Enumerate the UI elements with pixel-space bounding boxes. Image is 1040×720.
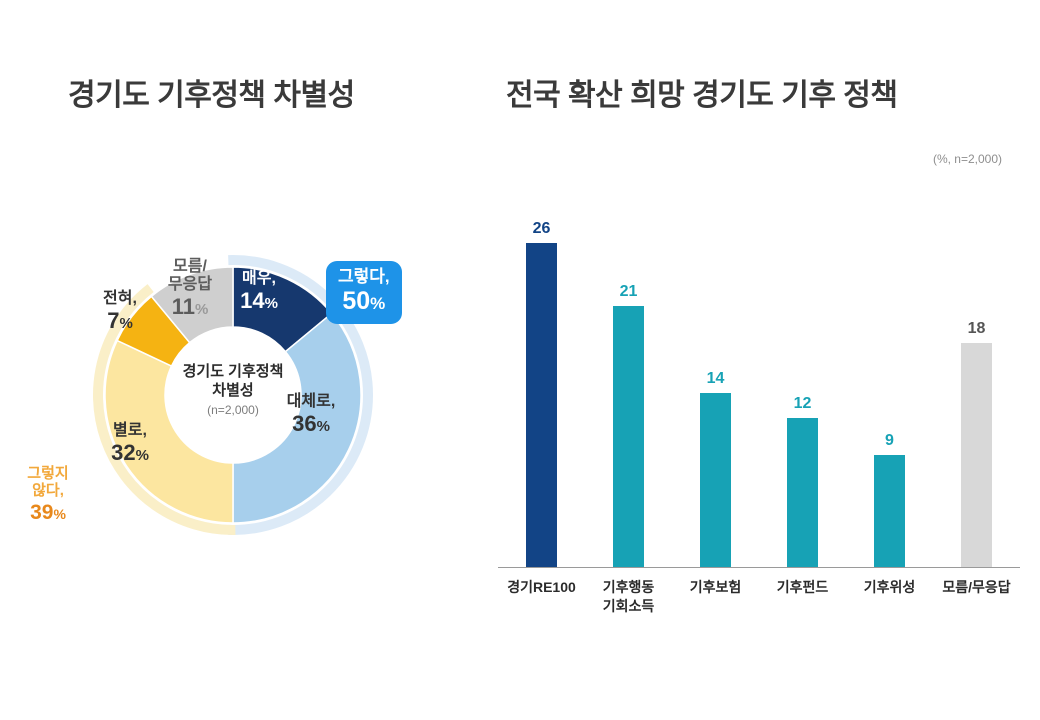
bar-rect	[526, 243, 557, 567]
callout-value: 50%	[338, 288, 390, 316]
x-axis-label: 기후보험	[673, 578, 759, 616]
donut-label-매우: 매우, 14%	[216, 270, 302, 314]
outer-label-line1: 그렇지	[10, 465, 86, 482]
callout-name: 그렇다,	[338, 268, 390, 287]
outer-label-value: 39%	[10, 501, 86, 525]
bar-chart: (%, n=2,000) 26211412918 경기RE100기후행동기회소득…	[480, 140, 1040, 640]
donut-chart: 경기도 기후정책 차별성 (n=2,000) 매우, 14% 대체로, 36% …	[0, 215, 460, 575]
segment-name-line2: 무응답	[152, 276, 228, 294]
x-axis-label-line: 경기RE100	[499, 578, 585, 597]
bar-column: 14	[673, 188, 759, 567]
bar-value-label: 14	[707, 371, 725, 387]
bar-plot-area: 26211412918	[498, 188, 1020, 568]
segment-name: 별로,	[87, 422, 173, 440]
x-axis-label: 기후행동기회소득	[586, 578, 672, 616]
segment-name: 전혀,	[82, 290, 158, 308]
bar-column: 12	[760, 188, 846, 567]
bar-series: 26211412918	[498, 188, 1020, 567]
x-axis-line	[498, 567, 1020, 568]
x-axis-label-line: 기후보험	[673, 578, 759, 597]
bar-column: 21	[586, 188, 672, 567]
bar-value-label: 21	[620, 284, 638, 300]
bar-value-label: 12	[794, 396, 812, 412]
x-axis-label-line: 모름/무응답	[934, 578, 1020, 597]
bar-column: 26	[499, 188, 585, 567]
donut-label-전혀: 전혀, 7%	[82, 290, 158, 334]
x-axis-label: 기후펀드	[760, 578, 846, 616]
x-axis-label-line: 기후행동	[586, 578, 672, 597]
x-axis-labels: 경기RE100기후행동기회소득기후보험기후펀드기후위성모름/무응답	[498, 578, 1020, 616]
x-axis-label-line: 기회소득	[586, 597, 672, 616]
page-title-right: 전국 확산 희망 경기도 기후 정책	[506, 70, 897, 114]
segment-value: 11%	[152, 295, 228, 320]
bar-rect	[613, 306, 644, 568]
bar-column: 9	[847, 188, 933, 567]
donut-callout-그렇다: 그렇다, 50%	[326, 261, 402, 324]
x-axis-label: 기후위성	[847, 578, 933, 616]
segment-name-line1: 모름/	[152, 258, 228, 276]
bar-rect	[700, 393, 731, 567]
bar-column: 18	[934, 188, 1020, 567]
bar-rect	[874, 455, 905, 567]
bar-value-label: 18	[968, 321, 986, 337]
donut-label-모름무응답: 모름/ 무응답 11%	[152, 258, 228, 319]
segment-name: 대체로,	[268, 393, 354, 411]
bar-value-label: 9	[885, 433, 894, 449]
infographic-canvas: 경기도 기후정책 차별성 경기도 기후정책 차별성 (n=2,000) 매우, …	[0, 0, 1040, 720]
segment-value: 14%	[216, 289, 302, 314]
center-line-1: 경기도 기후정책	[138, 363, 328, 382]
segment-value: 7%	[82, 309, 158, 334]
outer-label-line2: 않다,	[10, 482, 86, 499]
bar-rect	[961, 343, 992, 567]
segment-value: 32%	[87, 441, 173, 466]
donut-label-별로: 별로, 32%	[87, 422, 173, 466]
segment-value: 36%	[268, 412, 354, 437]
donut-label-대체로: 대체로, 36%	[268, 393, 354, 437]
page-title-left: 경기도 기후정책 차별성	[68, 70, 355, 114]
x-axis-label: 경기RE100	[499, 578, 585, 616]
bar-value-label: 26	[533, 221, 551, 237]
x-axis-label: 모름/무응답	[934, 578, 1020, 616]
chart-note: (%, n=2,000)	[933, 152, 1002, 166]
segment-name: 매우,	[216, 270, 302, 288]
bar-rect	[787, 418, 818, 567]
donut-outer-label-그렇지않다: 그렇지 않다, 39%	[10, 465, 86, 525]
x-axis-label-line: 기후펀드	[760, 578, 846, 597]
x-axis-label-line: 기후위성	[847, 578, 933, 597]
